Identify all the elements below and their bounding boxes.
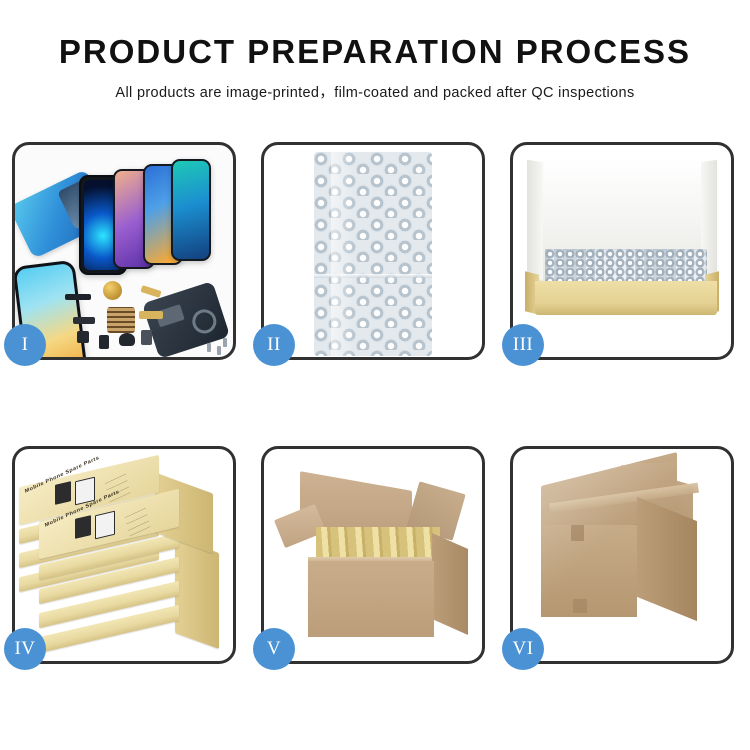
step-panel-3 [510,142,734,360]
carton-filling-illustration [264,449,482,661]
step-badge-2: II [253,324,295,366]
box-lid-flap-left [527,160,543,281]
flex-cable-icon-2 [139,311,163,319]
chip-part-icon-2 [99,335,109,349]
step-card-6: VI [510,446,734,664]
step-badge-5: V [253,628,295,670]
flex-cable-icon-3 [73,317,95,324]
box-print-screen-4 [95,511,115,540]
box-front-panel [535,281,717,315]
box-contents-bubblewrap [545,249,707,283]
bubble-pattern [545,249,707,283]
step-badge-3: III [502,324,544,366]
screw-icon-3 [223,338,227,347]
sealed-carton-illustration [513,449,731,661]
steps-grid: I II [12,142,738,682]
carton-body-right [432,533,468,635]
carton-face-left [541,525,637,617]
step-card-1: I [12,142,236,360]
carton-tab-2 [573,599,587,613]
step-card-5: V [261,446,485,664]
phone-fan-group [79,159,229,271]
stack-side-lower [175,537,219,649]
step-panel-1 [12,142,236,360]
step-panel-4: Mobile Phone Spare Parts ———————————————… [12,446,236,664]
stacked-boxes-illustration: Mobile Phone Spare Parts ———————————————… [15,449,233,661]
speaker-part-icon [65,294,91,300]
screw-icon-2 [207,343,211,352]
carton-body-front [308,561,434,637]
carton-tab-1 [571,525,584,541]
box-print-screen-1 [55,481,71,505]
header: PRODUCT PREPARATION PROCESS All products… [0,0,750,102]
chip-part-icon-3 [119,333,135,346]
connector-grid-icon [107,307,135,333]
product-preparation-infographic: PRODUCT PREPARATION PROCESS All products… [0,0,750,750]
step-panel-2 [261,142,485,360]
bubble-wrap-pack [314,152,432,356]
chip-part-icon-1 [77,331,89,343]
coil-part-icon [103,281,122,300]
box-stack: Mobile Phone Spare Parts ———————————————… [15,453,233,661]
wrap-gloss-highlight [331,152,357,356]
phone-parts-illustration [15,145,233,357]
step-panel-6 [510,446,734,664]
bubble-wrap-illustration [264,145,482,357]
phone-icon-4 [171,159,211,261]
step-badge-4: IV [4,628,46,670]
step-card-4: Mobile Phone Spare Parts ———————————————… [12,446,236,664]
box-print-screen-3 [75,515,91,539]
step-badge-6: VI [502,628,544,670]
inner-box-illustration [513,145,731,357]
step-badge-1: I [4,324,46,366]
screw-icon-1 [217,346,221,355]
flex-cable-icon-1 [140,285,161,298]
chip-part-icon-4 [141,330,152,345]
step-card-2: II [261,142,485,360]
step-panel-5 [261,446,485,664]
step-card-3: III [510,142,734,360]
page-subtitle: All products are image-printed，film-coat… [0,81,750,102]
page-title: PRODUCT PREPARATION PROCESS [0,34,750,71]
